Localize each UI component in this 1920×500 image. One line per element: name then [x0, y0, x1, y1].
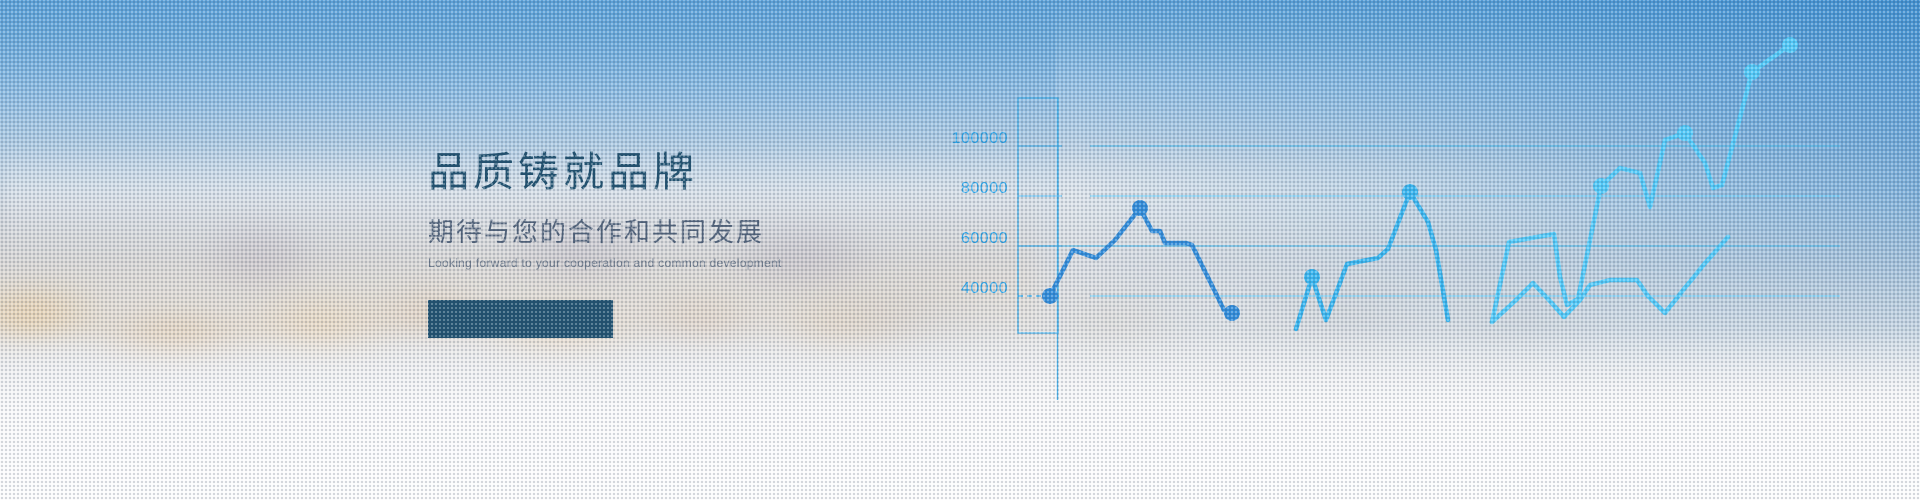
hero-copy-block: 品质铸就品牌 期待与您的合作和共同发展 Looking forward to y…: [428, 150, 948, 338]
hero-banner: 100000 80000 60000 40000 品质铸就品牌 期待与您的合作和…: [0, 0, 1920, 500]
page-title: 品质铸就品牌: [428, 150, 948, 195]
page-subtitle-english: Looking forward to your cooperation and …: [428, 256, 948, 270]
cta-button[interactable]: [428, 300, 613, 338]
page-subtitle: 期待与您的合作和共同发展: [428, 217, 948, 248]
background-bottom-fade: [0, 330, 1920, 500]
